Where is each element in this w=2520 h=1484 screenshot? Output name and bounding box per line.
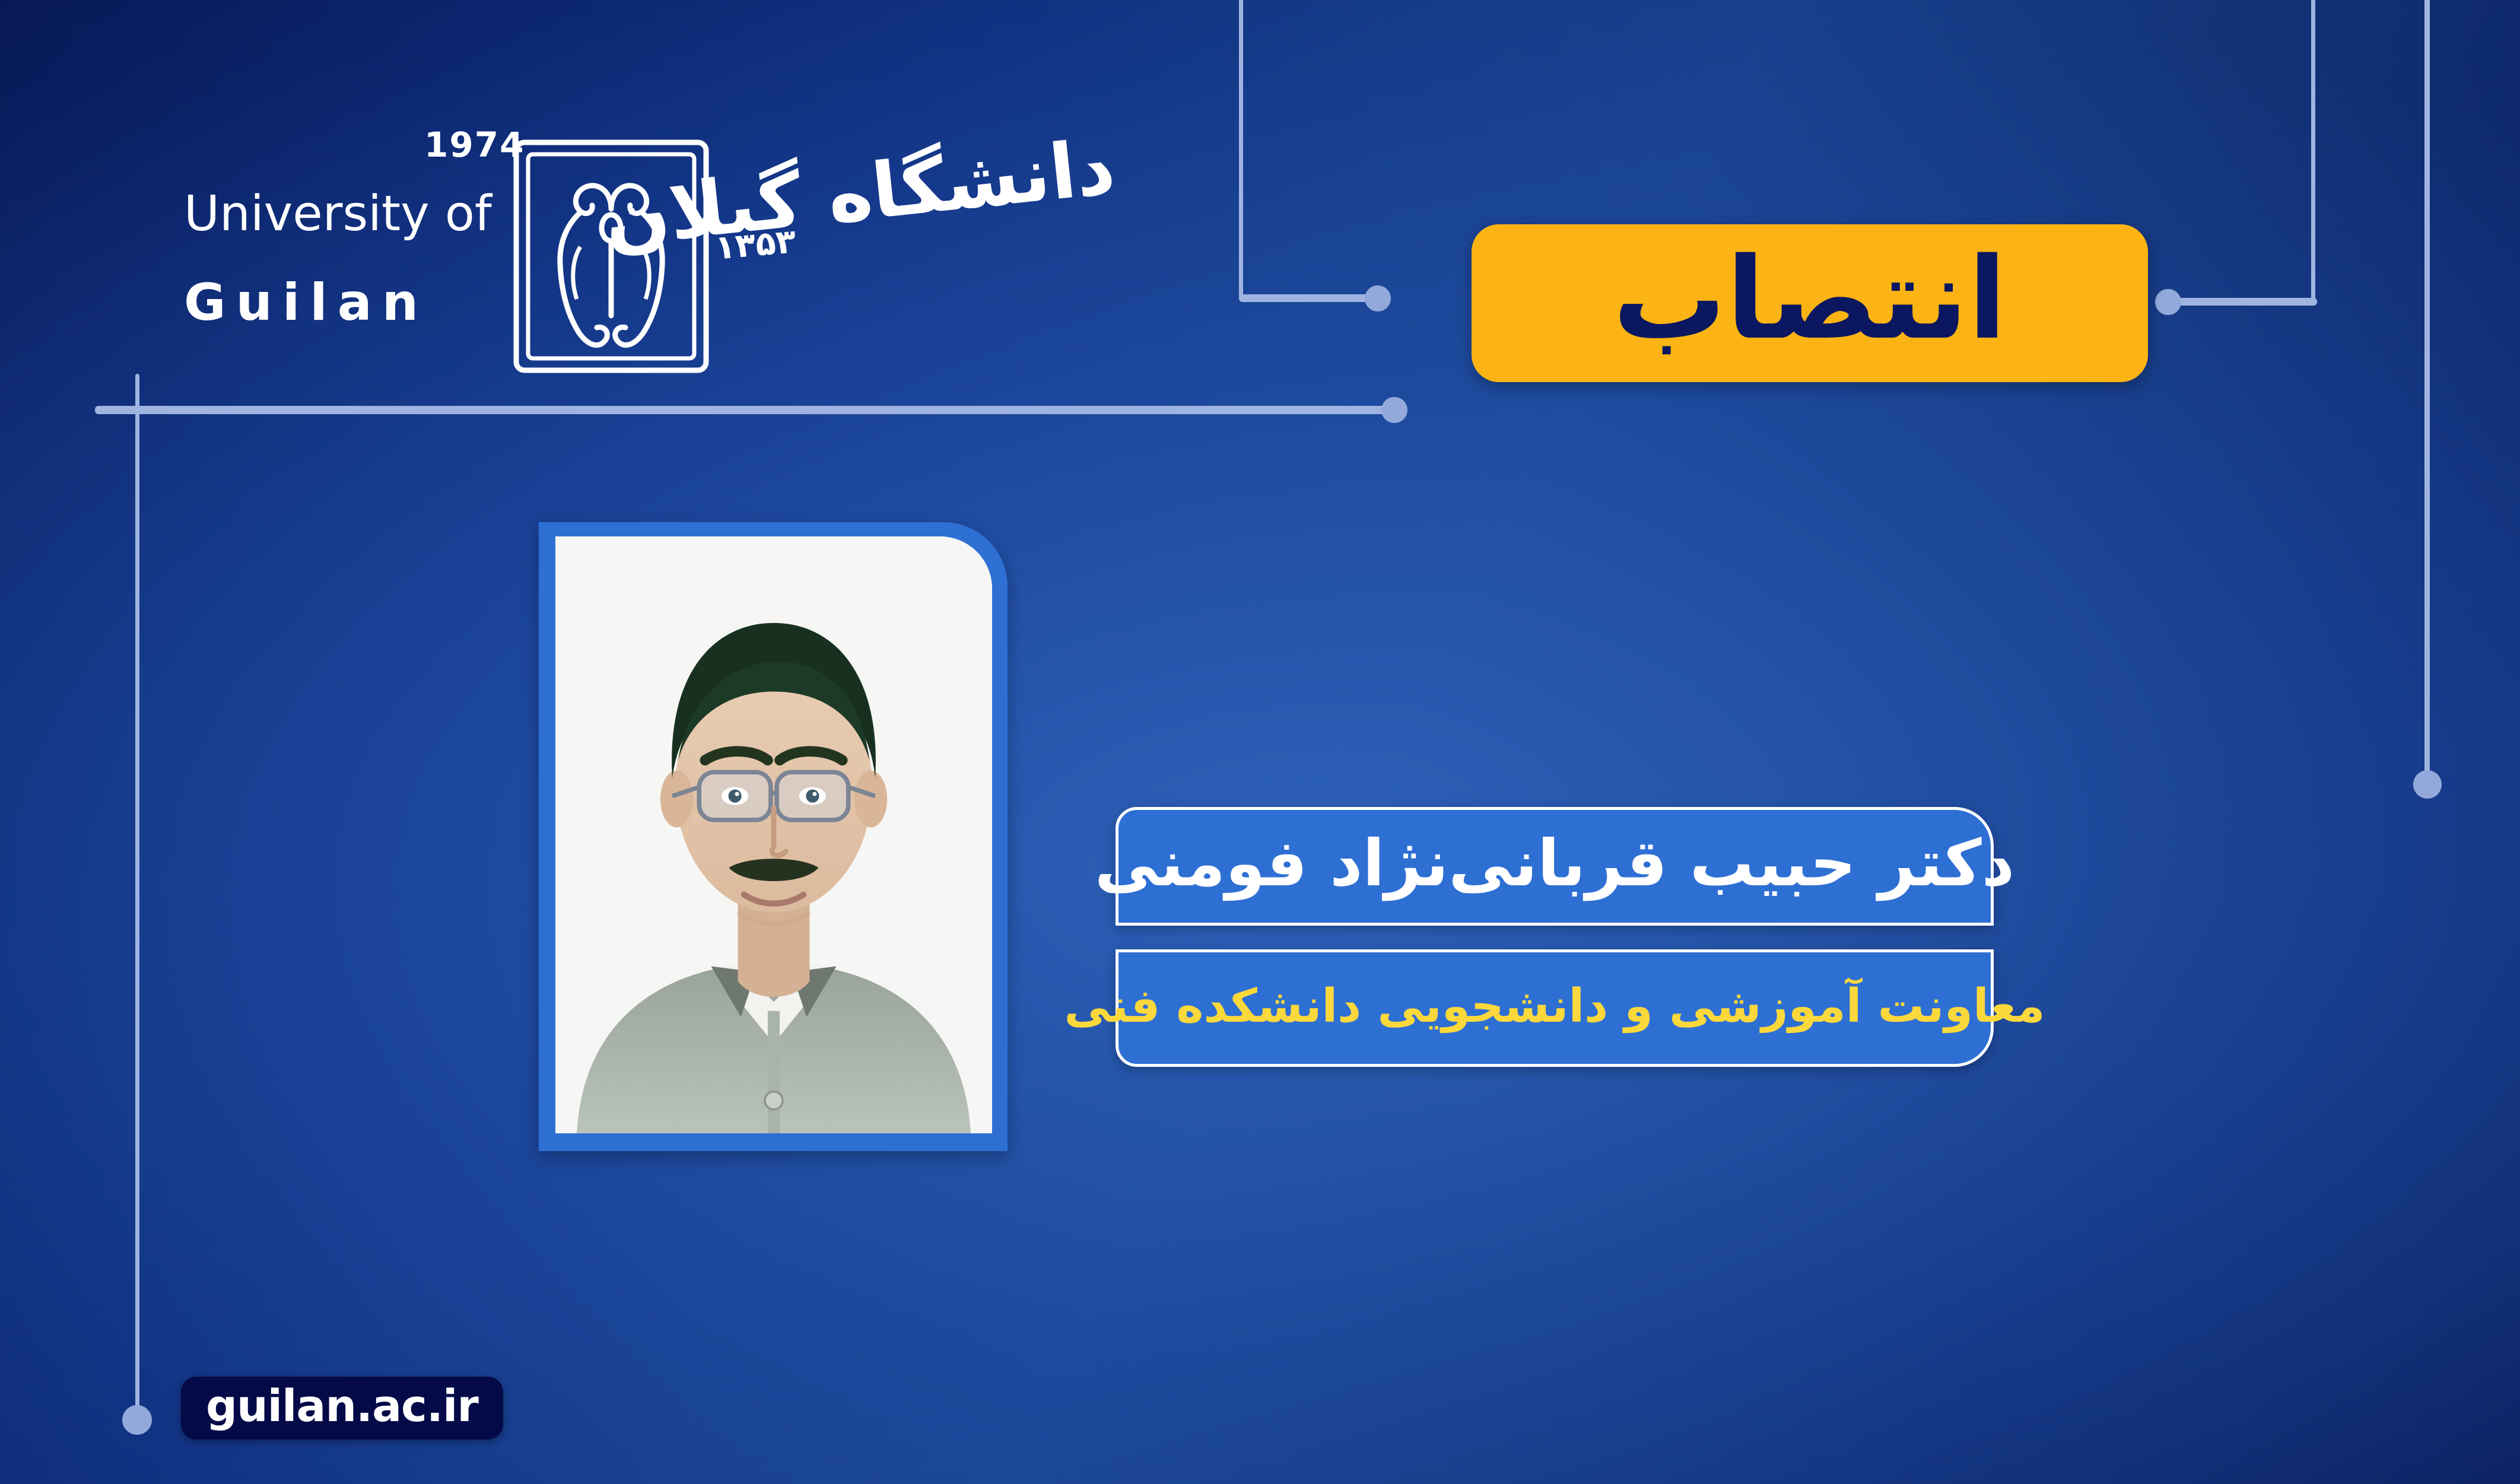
logo-english-name: University of Guilan: [184, 190, 516, 332]
decor-line-far-right-vertical: [2424, 0, 2430, 777]
portrait-photo: [555, 536, 992, 1133]
person-title-plate: معاونت آموزشی و دانشجویی دانشکده فنی: [1116, 949, 1994, 1067]
decor-line-right-vertical: [2311, 0, 2315, 304]
decor-line-right-horizontal: [2169, 298, 2317, 306]
decor-dot-far-right-end: [2413, 770, 2442, 799]
appointment-badge-label: انتصاب: [1613, 243, 2007, 355]
decor-line-left-horizontal: [95, 406, 1388, 414]
portrait-frame: [539, 522, 1008, 1151]
logo-guilan-word: Guilan: [184, 273, 516, 332]
decor-dot-mid-bracket-end: [1365, 285, 1391, 312]
decor-dot-left-vertical-end: [122, 1405, 152, 1435]
website-url-chip[interactable]: guilan.ac.ir: [181, 1377, 503, 1439]
appointment-banner: 1974 University of Guilan ۱۳۵۳ دانشگاه گ…: [0, 0, 2520, 1484]
website-url: guilan.ac.ir: [206, 1384, 478, 1428]
logo-persian-name: دانشگاه گیلان: [732, 123, 1119, 250]
person-name-plate: دکتر حبیب قربانی‌نژاد فومنی: [1116, 807, 1994, 926]
decor-line-mid-vertical: [1239, 0, 1243, 298]
decor-line-left-vertical: [135, 374, 139, 1418]
decor-dot-right-bracket-end: [2155, 289, 2181, 315]
person-name: دکتر حبیب قربانی‌نژاد فومنی: [1095, 832, 2014, 896]
university-logo: 1974 University of Guilan ۱۳۵۳ دانشگاه گ…: [178, 125, 1127, 380]
appointment-badge: انتصاب: [1472, 224, 2148, 382]
decor-dot-left-horizontal-end: [1381, 397, 1407, 423]
logo-university-word: University of: [184, 190, 516, 239]
decor-line-mid-horizontal: [1239, 294, 1374, 302]
person-title: معاونت آموزشی و دانشجویی دانشکده فنی: [1064, 983, 2045, 1029]
